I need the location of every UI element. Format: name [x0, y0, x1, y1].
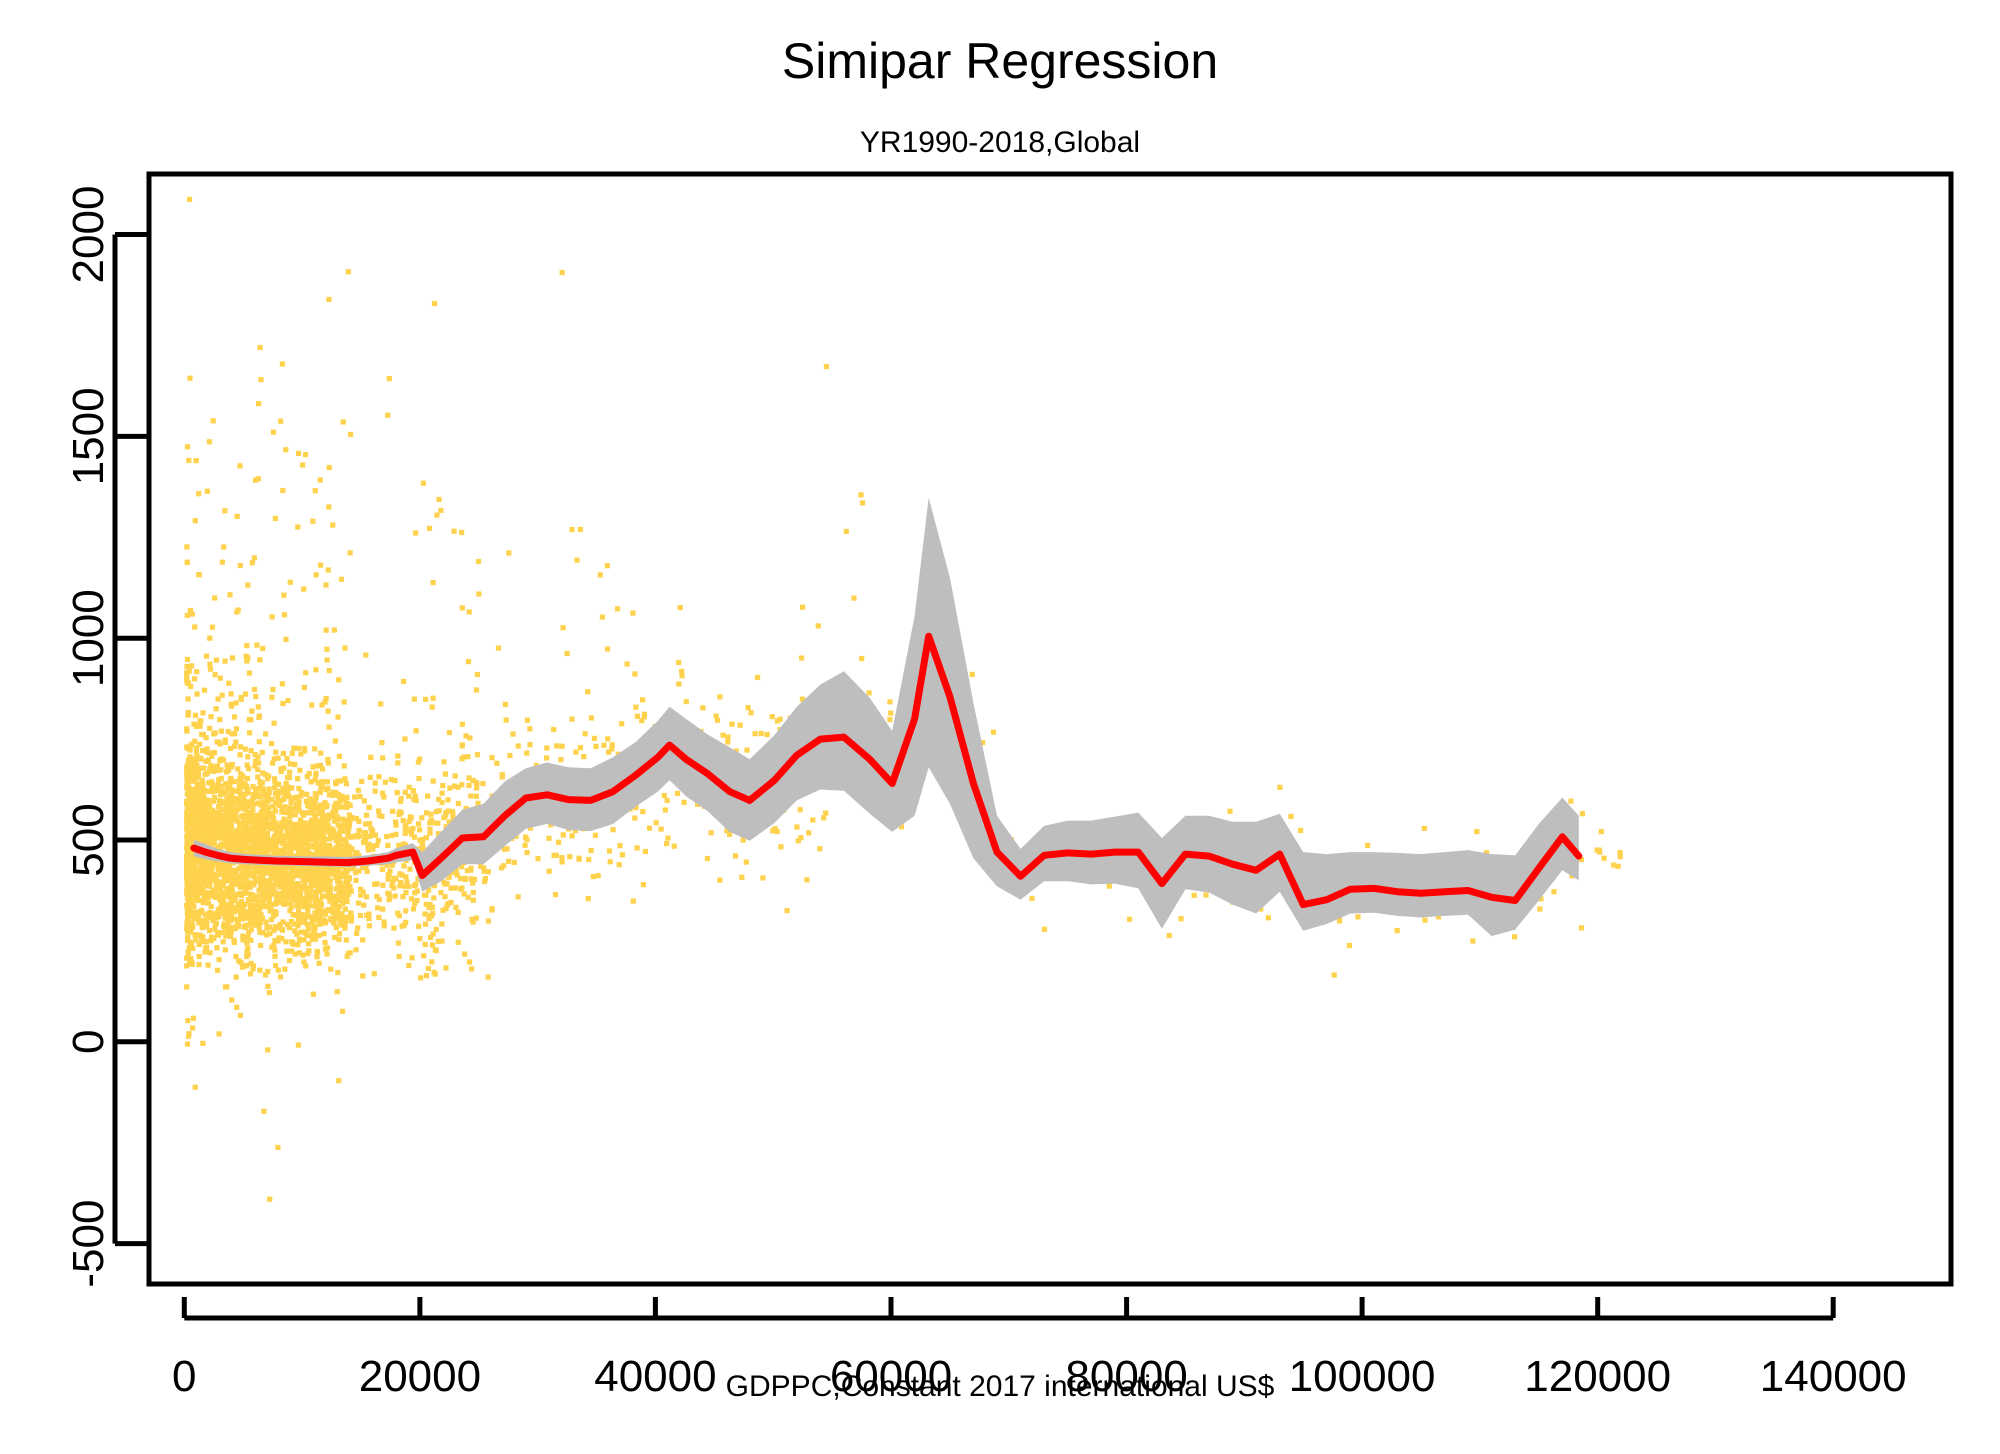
y-tick-label: 0 — [64, 1030, 113, 1054]
plot-frame — [149, 174, 1951, 1284]
y-tick-label: 2000 — [64, 186, 113, 284]
y-tick-label: -500 — [64, 1200, 113, 1288]
chart-figure: Simipar Regression YR1990-2018,Global 02… — [0, 0, 2000, 1454]
y-tick-label: 1500 — [64, 387, 113, 485]
plot-canvas: 020000400006000080000100000120000140000-… — [0, 0, 2000, 1454]
y-tick-label: 1000 — [64, 589, 113, 687]
x-axis-label: GDPPC,Constant 2017 international US$ — [0, 1372, 2000, 1402]
confidence-band — [194, 498, 1579, 936]
y-tick-label: 500 — [64, 803, 113, 876]
